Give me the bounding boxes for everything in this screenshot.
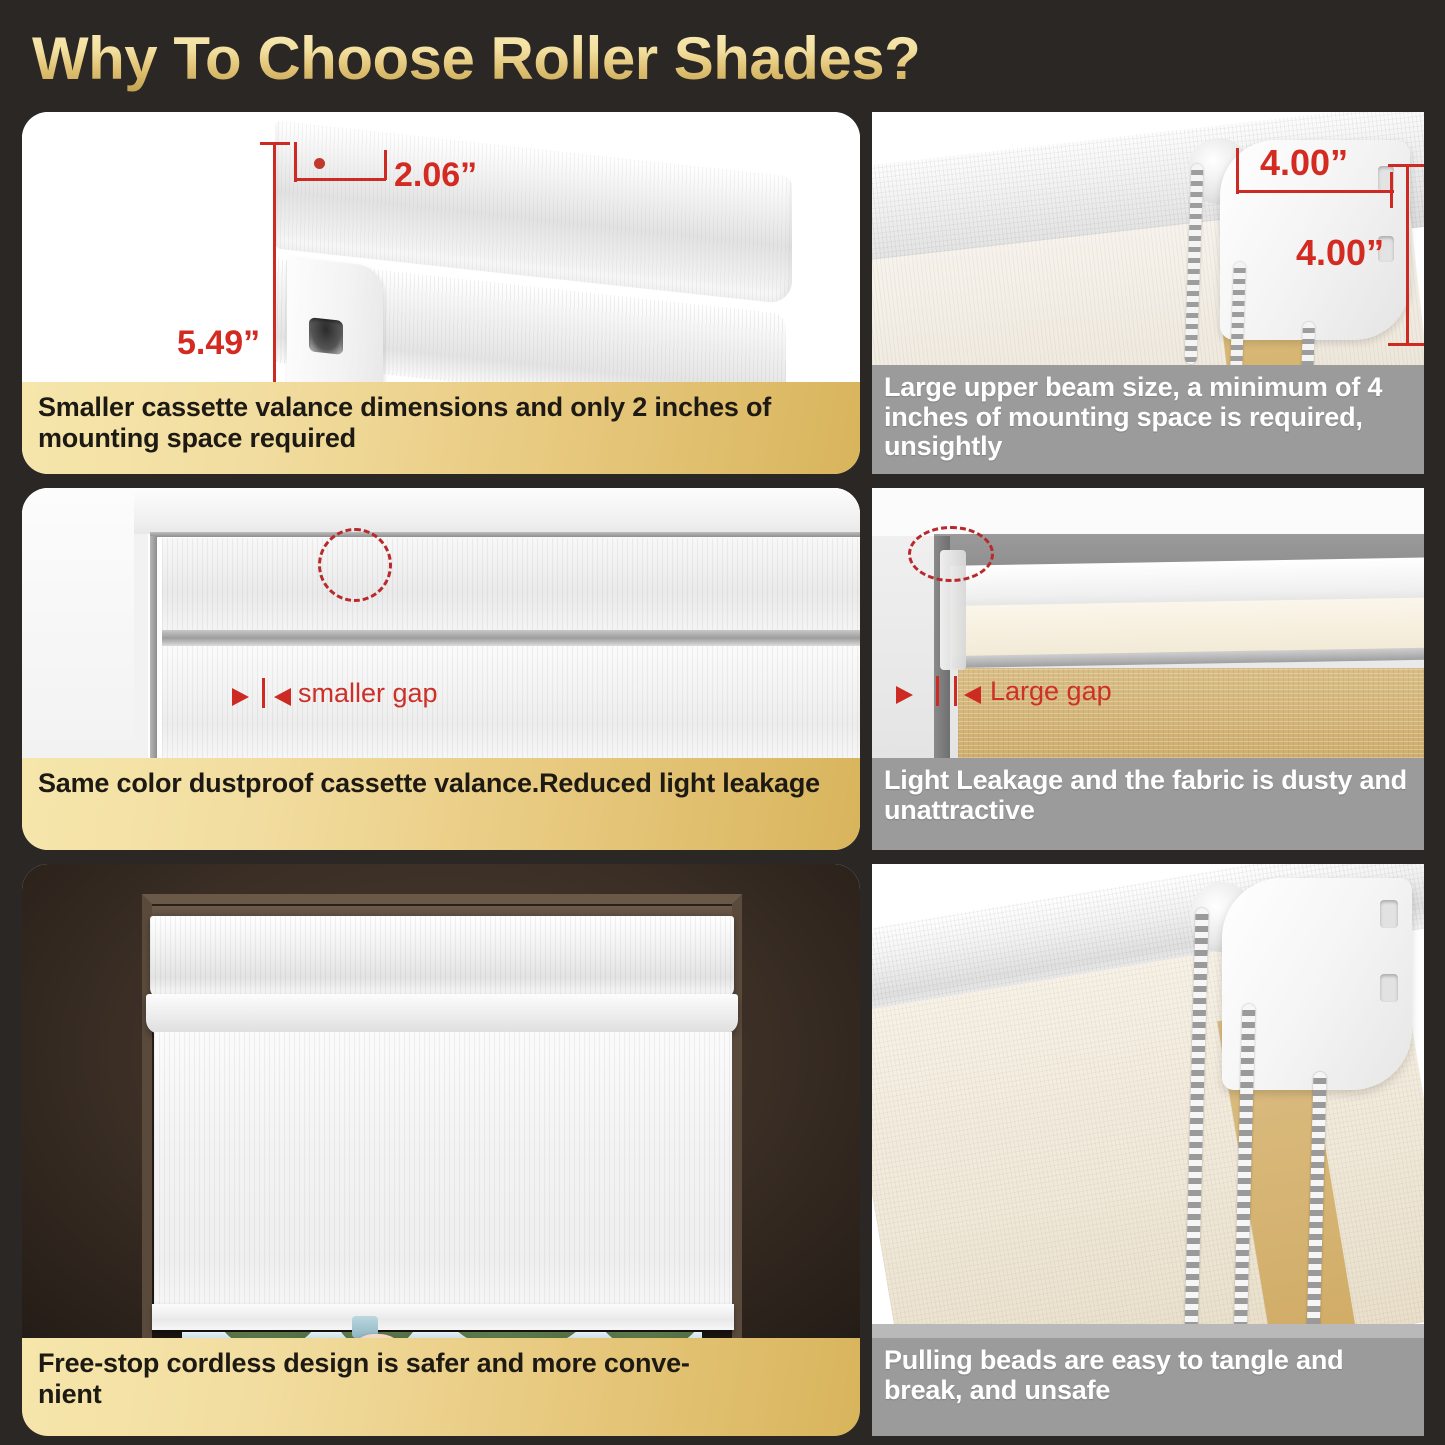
tree-far-right [590,1332,702,1338]
roller-shade-fabric [154,1032,732,1318]
gap-label-large: Large gap [990,676,1112,707]
bead-chain-right [1301,322,1315,365]
panel-light-leakage: Large gap Light Leakage and the fabric i… [872,488,1424,850]
panel-cordless-design: Free-stop cordless design is safer and m… [22,864,860,1436]
panel-caption-cordless-design: Free-stop cordless design is safer and m… [22,1338,860,1436]
highlight-circle-icon [908,526,994,582]
shade-bottom-rail [152,1304,734,1330]
dimension-label-height: 5.49” [177,324,260,363]
cassette-valance [150,916,734,998]
shade-mid-rail [162,630,860,646]
dimension-label-height: 4.00” [1296,232,1384,274]
panel-caption-cassette-valance: Smaller cassette valance dimensions and … [22,382,860,474]
tree-left [208,1332,328,1338]
panel-caption-large-upper-beam: Large upper beam size, a minimum of 4 in… [872,365,1424,474]
panel-card: 5.49” 2.06” Smaller cassette valance dim… [22,112,860,474]
panel-large-upper-beam: 4.00” 4.00” Large upper beam size, a min… [872,112,1424,474]
infographic-root: Why To Choose Roller Shades? [0,0,1445,1445]
dimension-tick-top [1388,164,1424,167]
panel-photo-cassette-valance: 5.49” 2.06” [22,112,860,382]
dimension-label-width: 4.00” [1260,142,1348,184]
highlight-circle-icon [318,528,392,602]
shade-left-edge [150,536,157,758]
bracket-slot-icon [309,317,343,355]
panel-pulling-beads: Pulling beads are easy to tangle and bre… [872,864,1424,1436]
panel-caption-light-leakage: Light Leakage and the fabric is dusty an… [872,758,1424,850]
panel-photo-dustproof-valance: smaller gap [22,488,860,758]
gap-arrow-left-icon [896,686,913,704]
gap-arrow-left-icon [232,688,249,706]
panel-photo-large-upper-beam: 4.00” 4.00” [872,112,1424,365]
dimension-label-width: 2.06” [394,156,477,195]
page-title: Why To Choose Roller Shades? [32,20,1412,98]
panel-caption-pulling-beads: Pulling beads are easy to tangle and bre… [872,1338,1424,1436]
gap-arrow-right-icon [964,686,981,704]
dimension-tick-right [1390,172,1393,208]
dimension-line-horizontal [1236,190,1394,193]
valance-lip [146,994,738,1034]
panel-photo-pulling-beads [872,864,1424,1338]
dimension-tick-left [1236,148,1239,194]
window-frame-top [134,488,860,534]
dimension-tick-bottom [1388,343,1424,346]
panel-card: Free-stop cordless design is safer and m… [22,864,860,1436]
panel-card: Pulling beads are easy to tangle and bre… [872,864,1424,1436]
panel-card: Large gap Light Leakage and the fabric i… [872,488,1424,850]
dimension-line-vertical [1406,164,1409,346]
floor-strip [872,1324,1424,1338]
gap-marker-line [262,678,265,708]
panel-grid: 5.49” 2.06” Smaller cassette valance dim… [0,106,1445,1436]
panel-dustproof-valance: smaller gap Same color dustproof cassett… [22,488,860,850]
dimension-line-vertical [273,142,276,382]
dimension-tick-right [384,150,387,180]
red-pin-marker [314,158,325,169]
caption-line-1: Free-stop cordless design is safer and m… [38,1348,690,1378]
panel-cassette-valance: 5.49” 2.06” Smaller cassette valance dim… [22,112,860,474]
caption-line-2: nient [38,1379,102,1409]
gap-marker-line-1 [936,676,939,706]
tree-right [432,1332,602,1338]
dimension-tick-left [294,142,297,182]
shade-lower-section [162,646,860,758]
window-glass [182,1332,702,1338]
panel-photo-light-leakage: Large gap [872,488,1424,758]
panel-card: smaller gap Same color dustproof cassett… [22,488,860,850]
gap-marker-line-2 [954,676,957,706]
gap-label-smaller: smaller gap [298,678,438,709]
panel-card: 4.00” 4.00” Large upper beam size, a min… [872,112,1424,474]
dimension-line-horizontal [294,178,386,181]
dimension-tick-top [260,142,290,145]
panel-photo-cordless-design [22,864,860,1338]
end-bracket [287,257,383,382]
shade-upper-section [162,538,860,630]
panel-caption-dustproof-valance: Same color dustproof cassette valance.Re… [22,758,860,850]
page-title-container: Why To Choose Roller Shades? [32,20,1412,98]
gap-arrow-right-icon [274,688,291,706]
